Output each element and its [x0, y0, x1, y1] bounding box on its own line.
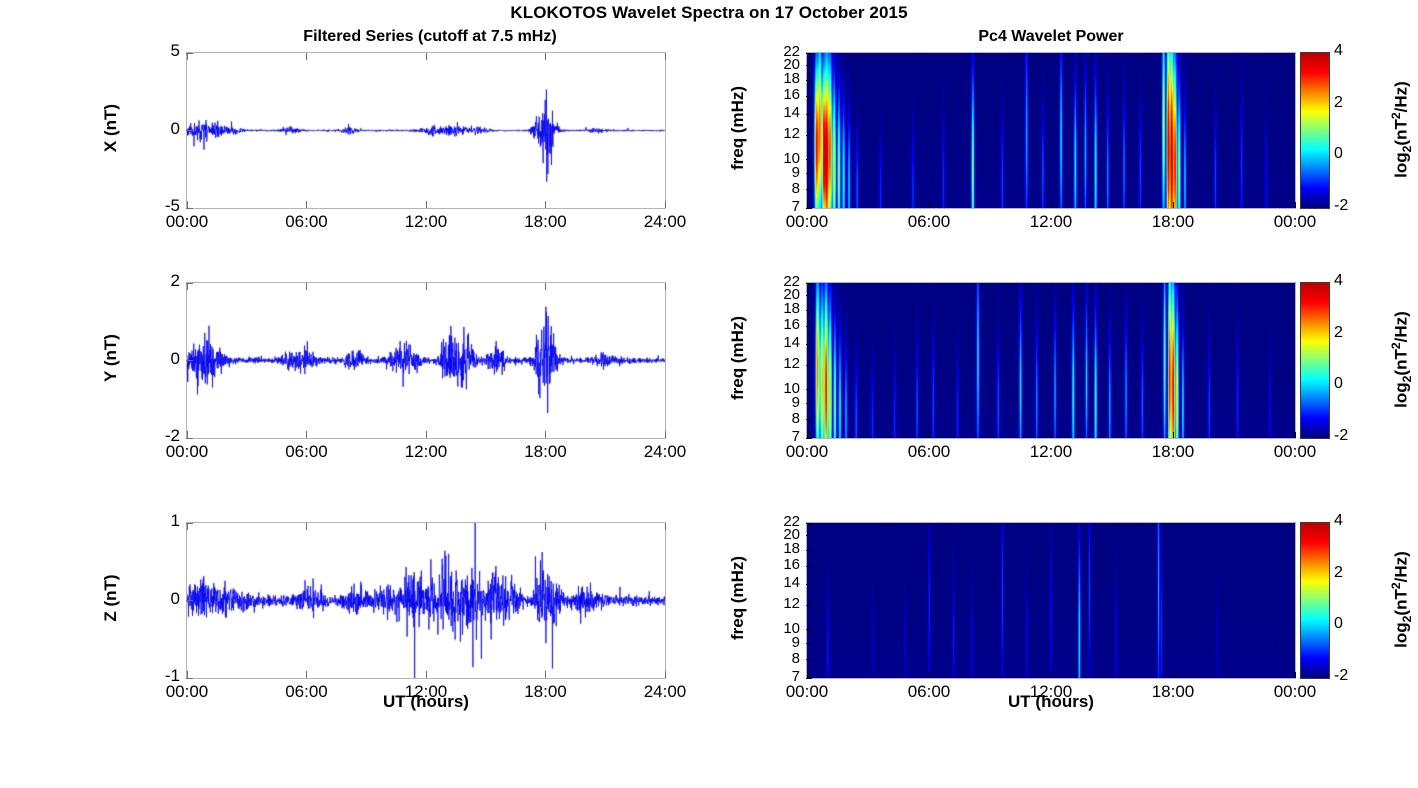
colorbar-x [1300, 52, 1330, 209]
xtick-mark-top [187, 53, 188, 60]
spec-xtick-label-z-0: 00:00 [762, 682, 852, 702]
spec-xtick-label-x-3: 18:00 [1128, 212, 1218, 232]
left-column-title: Filtered Series (cutoff at 7.5 mHz) [110, 28, 750, 46]
spectrogram-yaxis-label-z: freq (mHz) [728, 518, 748, 678]
spec-xtick-label-x-2: 12:00 [1006, 212, 1096, 232]
spec-xtick-mark [1173, 672, 1174, 678]
spec-ytick-mark [806, 659, 812, 660]
xtick-mark-top [665, 53, 666, 60]
spec-ytick-mark [806, 283, 812, 284]
timeseries-yaxis-label-z: Z (nT) [101, 518, 121, 678]
spec-ytick-mark [806, 584, 812, 585]
ytick-mark [186, 130, 193, 131]
timeseries-trace-x [187, 53, 665, 208]
colorbar-tick-label-y-1: 2 [1334, 324, 1364, 342]
xtick-mark [426, 671, 427, 678]
spec-xtick-mark [1173, 202, 1174, 208]
spec-xtick-mark [1051, 432, 1052, 438]
colorbar-tick-label-y-3: -2 [1334, 427, 1364, 445]
spec-ytick-label-x-2: 18 [762, 70, 800, 87]
colorbar-label-text: log2(nT2/Hz) [1391, 551, 1410, 648]
spec-xtick-mark [929, 432, 930, 438]
spec-ytick-mark [806, 135, 812, 136]
spec-ytick-label-y-3: 16 [762, 316, 800, 333]
colorbar-tick-label-x-3: -2 [1334, 197, 1364, 215]
spec-xtick-mark [807, 672, 808, 678]
spec-ytick-label-y-4: 14 [762, 334, 800, 351]
xtick-mark [545, 201, 546, 208]
xtick-mark-top [187, 523, 188, 530]
colorbar-gradient [1301, 283, 1329, 438]
xtick-label-z-4: 24:00 [620, 682, 710, 702]
spectrogram-axes-z [806, 522, 1296, 679]
xtick-label-y-4: 24:00 [620, 442, 710, 462]
xtick-label-x-2: 12:00 [381, 212, 471, 232]
xtick-mark-top [545, 283, 546, 290]
spec-ytick-label-x-7: 9 [762, 164, 800, 181]
spec-ytick-mark [806, 96, 812, 97]
spec-xtick-mark [1051, 672, 1052, 678]
spec-xtick-label-x-1: 06:00 [884, 212, 974, 232]
spec-ytick-label-x-5: 12 [762, 125, 800, 142]
spec-ytick-mark [806, 159, 812, 160]
xtick-label-z-0: 00:00 [142, 682, 232, 702]
colorbar-label-text: log2(nT2/Hz) [1391, 81, 1410, 178]
figure-canvas: KLOKOTOS Wavelet Spectra on 17 October 2… [0, 0, 1418, 788]
xtick-mark [545, 431, 546, 438]
spec-xtick-label-y-0: 00:00 [762, 442, 852, 462]
xtick-mark [426, 431, 427, 438]
spec-xtick-label-z-3: 18:00 [1128, 682, 1218, 702]
timeseries-axes-y [186, 282, 666, 439]
xtick-mark-top [187, 283, 188, 290]
xtick-mark-top [306, 53, 307, 60]
colorbar-tick-label-y-2: 0 [1334, 375, 1364, 393]
xtick-mark [665, 431, 666, 438]
spec-ytick-mark [806, 629, 812, 630]
spec-ytick-mark [806, 403, 812, 404]
colorbar-y [1300, 282, 1330, 439]
spec-ytick-label-z-7: 9 [762, 634, 800, 651]
xtick-label-y-0: 00:00 [142, 442, 232, 462]
spec-xtick-mark [929, 672, 930, 678]
xtick-mark-top [545, 53, 546, 60]
spec-ytick-label-y-2: 18 [762, 300, 800, 317]
ytick-label-y-1: 0 [128, 349, 180, 369]
spec-ytick-mark [806, 419, 812, 420]
xtick-mark-top [665, 283, 666, 290]
spec-xtick-label-y-4: 00:00 [1250, 442, 1340, 462]
ytick-mark [186, 600, 193, 601]
xtick-label-x-4: 24:00 [620, 212, 710, 232]
spec-xtick-mark [1295, 202, 1296, 208]
xtick-label-z-1: 06:00 [262, 682, 352, 702]
xtick-mark-top [426, 283, 427, 290]
timeseries-yaxis-label-x: X (nT) [101, 48, 121, 208]
timeseries-trace-y [187, 283, 665, 438]
spec-ytick-mark [806, 65, 812, 66]
timeseries-trace-z [187, 523, 665, 678]
spectrogram-image-x [807, 53, 1295, 208]
spec-xtick-mark [1295, 432, 1296, 438]
xtick-label-x-3: 18:00 [501, 212, 591, 232]
timeseries-axes-x [186, 52, 666, 209]
xtick-label-z-3: 18:00 [501, 682, 591, 702]
colorbar-tick-label-z-1: 2 [1334, 564, 1364, 582]
spec-xtick-label-y-2: 12:00 [1006, 442, 1096, 462]
spec-ytick-mark [806, 566, 812, 567]
spec-ytick-label-y-8: 8 [762, 410, 800, 427]
spec-xtick-mark [929, 202, 930, 208]
spec-xtick-label-z-4: 00:00 [1250, 682, 1340, 702]
timeseries-yaxis-label-y: Y (nT) [101, 278, 121, 438]
spec-ytick-label-z-5: 12 [762, 595, 800, 612]
xtick-mark [545, 671, 546, 678]
spec-ytick-mark [806, 523, 812, 524]
spectrogram-yaxis-label-x: freq (mHz) [728, 48, 748, 208]
colorbar-tick-label-z-0: 4 [1334, 512, 1364, 530]
spec-ytick-label-x-4: 14 [762, 104, 800, 121]
spec-ytick-mark [806, 535, 812, 536]
xtick-mark-top [306, 283, 307, 290]
colorbar-label-z: log2(nT2/Hz) [1388, 509, 1413, 689]
xtick-label-y-2: 12:00 [381, 442, 471, 462]
xtick-label-x-0: 00:00 [142, 212, 232, 232]
colorbar-z [1300, 522, 1330, 679]
spec-ytick-mark [806, 326, 812, 327]
spec-xtick-label-y-3: 18:00 [1128, 442, 1218, 462]
ytick-label-y-0: 2 [128, 271, 180, 291]
spec-xtick-label-x-4: 00:00 [1250, 212, 1340, 232]
colorbar-tick-label-x-2: 0 [1334, 145, 1364, 163]
xtick-mark [665, 671, 666, 678]
xtick-mark [306, 671, 307, 678]
spec-ytick-label-z-3: 16 [762, 556, 800, 573]
spec-ytick-label-y-5: 12 [762, 355, 800, 372]
spec-ytick-mark [806, 80, 812, 81]
spec-xtick-label-y-1: 06:00 [884, 442, 974, 462]
spectrogram-image-z [807, 523, 1295, 678]
xtick-mark [187, 431, 188, 438]
xtick-mark [187, 671, 188, 678]
spec-ytick-mark [806, 344, 812, 345]
spec-xtick-mark [807, 432, 808, 438]
colorbar-label-y: log2(nT2/Hz) [1388, 269, 1413, 449]
xtick-mark [665, 201, 666, 208]
spec-xtick-label-z-1: 06:00 [884, 682, 974, 702]
xtick-mark [426, 201, 427, 208]
spec-xtick-label-x-0: 00:00 [762, 212, 852, 232]
spec-ytick-mark [806, 295, 812, 296]
ytick-label-z-1: 0 [128, 589, 180, 609]
spec-ytick-mark [806, 605, 812, 606]
xtick-label-x-1: 06:00 [262, 212, 352, 232]
xtick-mark [306, 201, 307, 208]
spec-ytick-label-x-8: 8 [762, 180, 800, 197]
xtick-mark-top [545, 523, 546, 530]
colorbar-gradient [1301, 523, 1329, 678]
spec-ytick-mark [806, 173, 812, 174]
spectrogram-axes-y [806, 282, 1296, 439]
ytick-label-x-0: 5 [128, 41, 180, 61]
xtick-label-y-3: 18:00 [501, 442, 591, 462]
spec-ytick-label-z-2: 18 [762, 540, 800, 557]
spec-ytick-mark [806, 389, 812, 390]
colorbar-tick-label-x-1: 2 [1334, 94, 1364, 112]
spec-ytick-label-z-8: 8 [762, 650, 800, 667]
spec-ytick-label-x-3: 16 [762, 86, 800, 103]
spec-ytick-mark [806, 114, 812, 115]
right-column-title: Pc4 Wavelet Power [806, 28, 1296, 46]
ytick-label-x-1: 0 [128, 119, 180, 139]
spec-ytick-label-y-7: 9 [762, 394, 800, 411]
xtick-label-z-2: 12:00 [381, 682, 471, 702]
spec-ytick-mark [806, 365, 812, 366]
colorbar-label-x: log2(nT2/Hz) [1388, 39, 1413, 219]
spectrogram-axes-x [806, 52, 1296, 209]
colorbar-label-text: log2(nT2/Hz) [1391, 311, 1410, 408]
spec-ytick-mark [806, 53, 812, 54]
spec-ytick-mark [806, 643, 812, 644]
xtick-mark-top [426, 53, 427, 60]
colorbar-tick-label-z-2: 0 [1334, 615, 1364, 633]
xtick-mark-top [665, 523, 666, 530]
colorbar-tick-label-x-0: 4 [1334, 42, 1364, 60]
ytick-mark [186, 360, 193, 361]
spec-ytick-mark [806, 310, 812, 311]
xtick-mark-top [426, 523, 427, 530]
ytick-label-z-0: 1 [128, 511, 180, 531]
timeseries-axes-z [186, 522, 666, 679]
figure-suptitle: KLOKOTOS Wavelet Spectra on 17 October 2… [0, 3, 1418, 23]
spec-xtick-label-z-2: 12:00 [1006, 682, 1096, 702]
spectrogram-image-y [807, 283, 1295, 438]
spec-xtick-mark [807, 202, 808, 208]
spec-ytick-mark [806, 550, 812, 551]
spectrogram-yaxis-label-y: freq (mHz) [728, 278, 748, 438]
spec-ytick-label-z-4: 14 [762, 574, 800, 591]
spec-xtick-mark [1051, 202, 1052, 208]
spec-ytick-mark [806, 189, 812, 190]
xtick-label-y-1: 06:00 [262, 442, 352, 462]
colorbar-tick-label-y-0: 4 [1334, 272, 1364, 290]
spec-xtick-mark [1295, 672, 1296, 678]
spec-xtick-mark [1173, 432, 1174, 438]
colorbar-tick-label-z-3: -2 [1334, 667, 1364, 685]
xtick-mark [306, 431, 307, 438]
xtick-mark [187, 201, 188, 208]
xtick-mark-top [306, 523, 307, 530]
colorbar-gradient [1301, 53, 1329, 208]
